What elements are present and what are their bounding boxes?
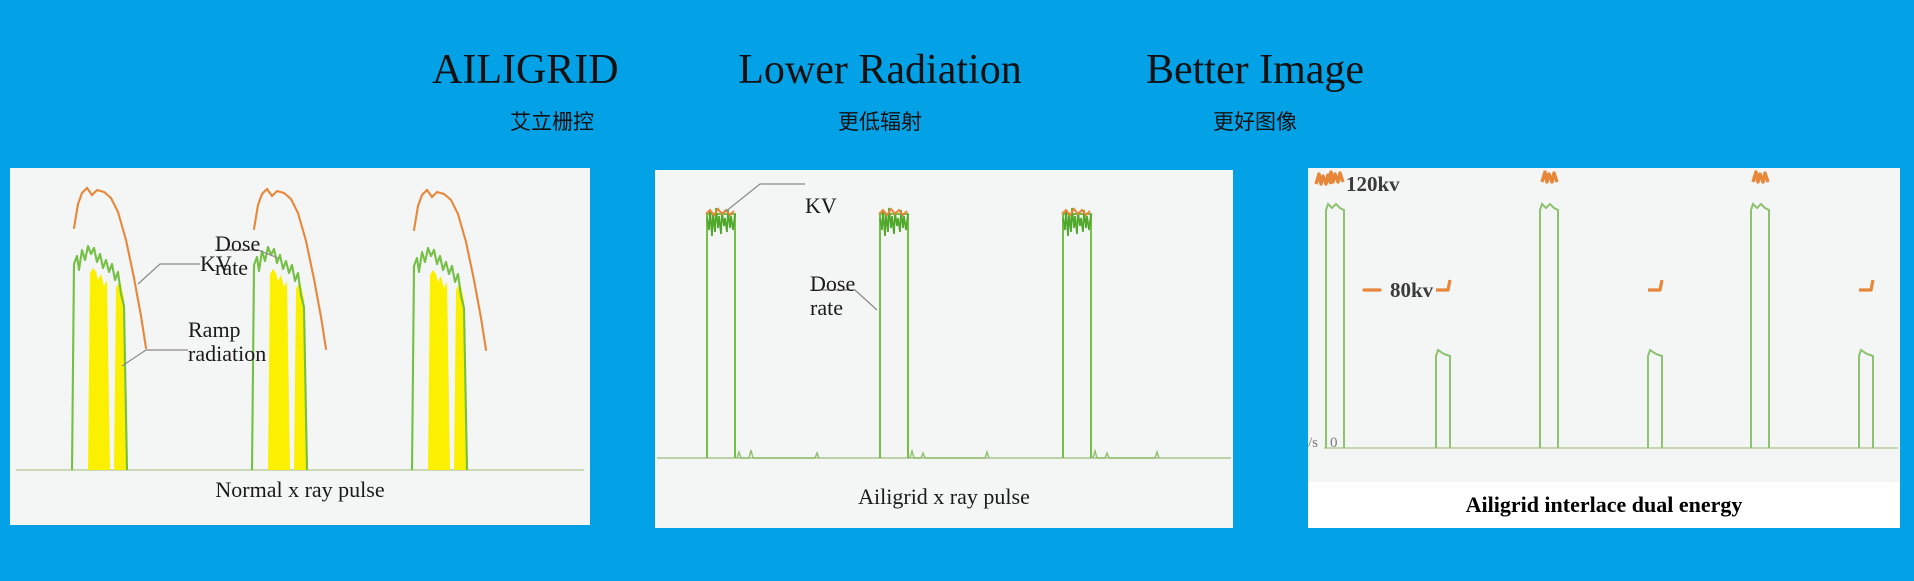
pulse-edge-1	[707, 214, 735, 458]
pulse-high-2	[1540, 204, 1558, 448]
annotation-kv-label: KV	[805, 193, 837, 218]
pulse-low-3	[1859, 350, 1873, 448]
legend-label-80kv: 80kv	[1390, 278, 1433, 303]
header-benefit-better-image: Better Image 更好图像	[1080, 48, 1430, 136]
annotation-ramp-radiation: Ramp radiation	[188, 294, 266, 365]
panel-normal-caption: Normal x ray pulse	[10, 477, 590, 503]
residual-2	[910, 451, 989, 458]
slide-root: AILIGRID 艾立栅控 Lower Radiation 更低辐射 Bette…	[0, 0, 1914, 581]
header-brand: AILIGRID 艾立栅控	[432, 48, 732, 136]
pulse-high-1	[1326, 204, 1344, 448]
kv-marker-low-3	[1859, 280, 1873, 290]
ramp-fill-3a	[428, 270, 450, 470]
panel-ailigrid-caption: Ailigrid x ray pulse	[655, 484, 1233, 510]
kv-marker-low-2	[1648, 280, 1662, 290]
leader-kv	[725, 184, 805, 212]
pulse-high-3	[1751, 204, 1769, 448]
residual-1	[737, 450, 819, 458]
kv-marker-low-1	[1436, 280, 1450, 290]
pulse-low-2	[1648, 350, 1662, 448]
axis-zero-label: 0	[1330, 435, 1338, 452]
panel-dual-energy-caption-bar: Ailigrid interlace dual energy	[1308, 482, 1900, 528]
chart-normal-pulse	[10, 168, 590, 525]
axis-unit-label: /s	[1308, 435, 1318, 452]
chart-ailigrid-pulse	[655, 170, 1233, 528]
benefit2-subtitle: 更好图像	[1080, 106, 1430, 136]
legend-label-120kv: 120kv	[1346, 172, 1400, 197]
residual-3	[1093, 451, 1159, 458]
benefit2-title: Better Image	[1080, 48, 1430, 92]
brand-subtitle: 艾立栅控	[432, 106, 732, 136]
annotation-dose-rate: Dose rate	[810, 248, 855, 319]
kv-marker-high-2	[1542, 172, 1557, 182]
annotation-ramp-radiation-label: Ramp radiation	[188, 317, 266, 366]
header: AILIGRID 艾立栅控 Lower Radiation 更低辐射 Bette…	[0, 22, 1914, 132]
pulse-edge-3	[1063, 214, 1091, 458]
panel-interlace-dual-energy: 120kv 80kv /s 0 Ailigrid interlace dual …	[1308, 168, 1900, 528]
panel-normal-x-ray-pulse: KV Dose rate Ramp radiation Normal x ray…	[10, 168, 590, 525]
kv-marker-high-3	[1753, 172, 1768, 182]
pulse-low-1	[1436, 350, 1450, 448]
leader-kv	[138, 264, 200, 284]
annotation-dose-rate-label: Dose rate	[810, 271, 855, 320]
header-benefit-lower-radiation: Lower Radiation 更低辐射	[700, 48, 1060, 136]
leader-ramp	[122, 350, 188, 366]
pulse-edge-2	[880, 214, 908, 458]
legend-marker-120kv	[1316, 174, 1331, 184]
annotation-kv: KV	[805, 170, 837, 218]
benefit1-title: Lower Radiation	[700, 48, 1060, 92]
panel-dual-energy-caption: Ailigrid interlace dual energy	[1466, 492, 1743, 518]
ramp-fill-2a	[268, 269, 290, 470]
chart-dual-energy	[1308, 168, 1900, 528]
panel-ailigrid-x-ray-pulse: KV Dose rate Ailigrid x ray pulse	[655, 170, 1233, 528]
annotation-dose-rate: Dose rate	[215, 208, 260, 279]
brand-title: AILIGRID	[432, 48, 732, 92]
ramp-fill-1a	[88, 268, 110, 470]
annotation-dose-rate-label: Dose rate	[215, 231, 260, 280]
benefit1-subtitle: 更低辐射	[700, 106, 1060, 136]
